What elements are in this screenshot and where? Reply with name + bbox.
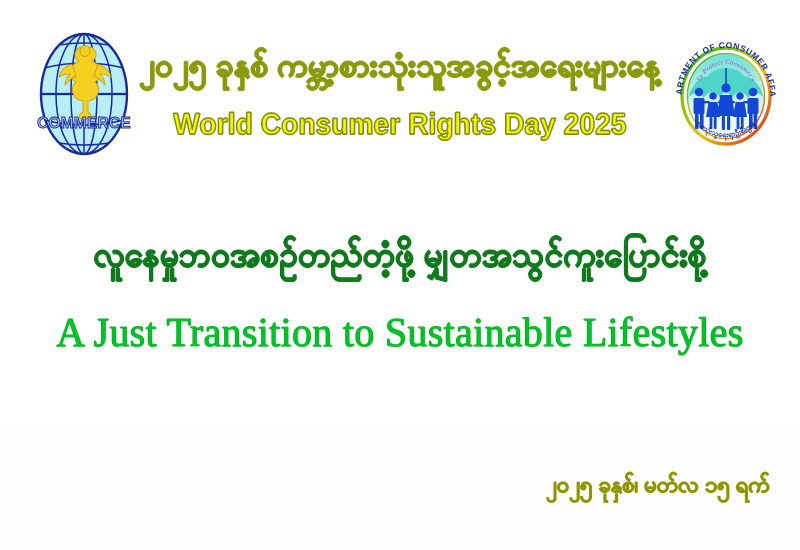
dca-emblem-icon: DEPARTMENT OF CONSUMER AFFAIRS To Protec… [664, 22, 788, 164]
ministry-of-commerce-logo: COMMERCE [28, 24, 140, 164]
header-title-myanmar: ၂၀၂၅ ခုနှစ် ကမ္ဘာ့စားသုံးသူအခွင့်အရေးမျာ… [0, 46, 800, 92]
banner-canvas: COMMERCE [0, 0, 800, 550]
header-title-english: World Consumer Rights Day 2025 [28, 108, 772, 142]
event-date-myanmar: ၂၀၂၅ ခုနှစ်၊ မတ်လ ၁၅ ရက် [546, 470, 770, 503]
department-of-consumer-affairs-logo: DEPARTMENT OF CONSUMER AFFAIRS To Protec… [664, 22, 788, 164]
theme-text-english: A Just Transition to Sustainable Lifesty… [12, 308, 788, 356]
theme-text-myanmar: လူနေမှုဘဝအစဉ်တည်တံ့ဖို့ မျှတအသွင်ကူးပြော… [0, 234, 800, 283]
commerce-emblem-icon: COMMERCE [28, 24, 140, 164]
